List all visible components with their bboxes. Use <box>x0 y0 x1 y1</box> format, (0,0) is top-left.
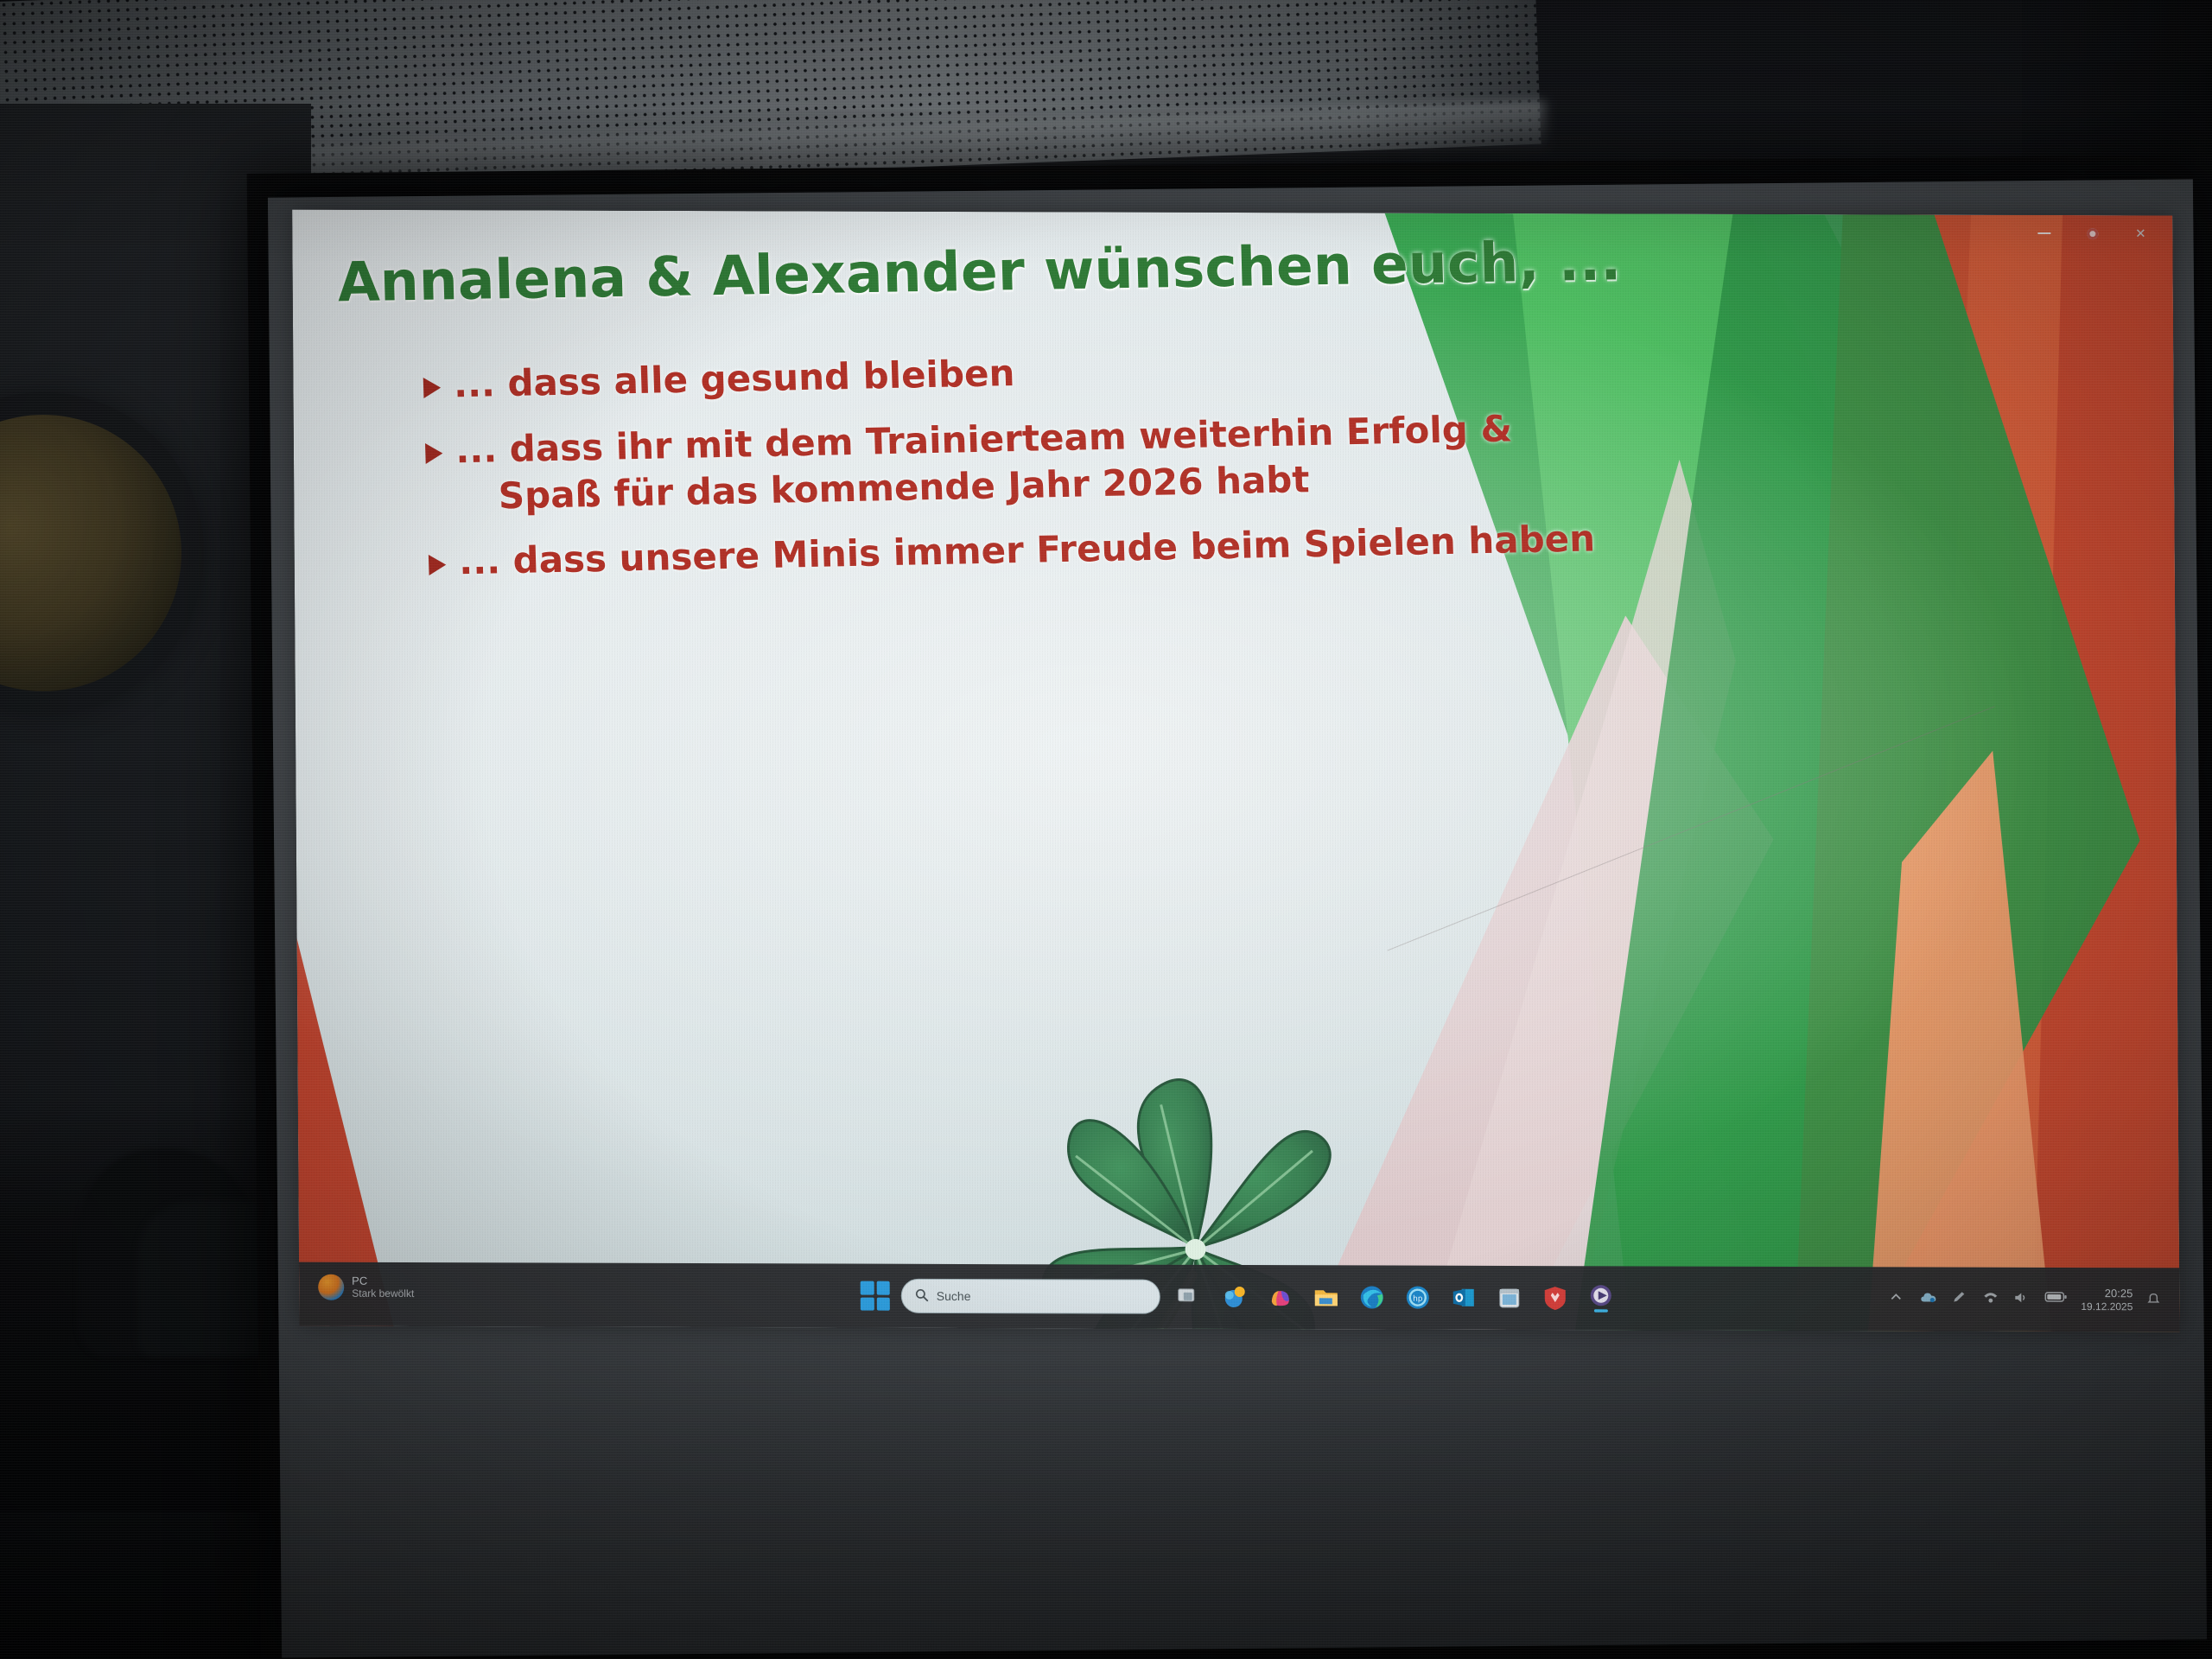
outlook-icon[interactable] <box>1446 1281 1481 1315</box>
search-input[interactable]: Suche <box>901 1279 1160 1314</box>
weather-cloud-icon <box>318 1274 344 1300</box>
svg-text:hp: hp <box>1413 1295 1423 1304</box>
taskbar-weather-widget[interactable]: PC Stark bewölkt <box>318 1274 414 1300</box>
list-item: ... dass ihr mit dem Trainierteam weiter… <box>422 401 1746 521</box>
powerpoint-slide: Annalena & Alexander wünschen euch, ... … <box>292 210 2179 1332</box>
list-item-label: ... dass ihr mit dem Trainierteam weiter… <box>454 405 1514 519</box>
taskbar-center-group: Suche <box>861 1279 1618 1316</box>
edge-icon[interactable] <box>1355 1280 1389 1314</box>
triangle-right-icon <box>426 553 460 578</box>
start-button[interactable] <box>861 1281 890 1311</box>
minimize-icon <box>2037 232 2050 234</box>
maximize-restore-button[interactable] <box>2069 219 2115 248</box>
file-explorer-icon[interactable] <box>1309 1280 1344 1314</box>
pen-icon[interactable] <box>1951 1291 1968 1308</box>
list-item: ... dass alle gesund bleiben <box>420 335 1743 409</box>
microsoft-store-icon[interactable] <box>1492 1281 1527 1315</box>
triangle-right-icon <box>423 441 456 466</box>
projection-screen: Annalena & Alexander wünschen euch, ... … <box>268 179 2207 1657</box>
weather-title: PC <box>352 1274 414 1287</box>
copilot-icon[interactable] <box>1263 1280 1298 1314</box>
windows-desktop: Annalena & Alexander wünschen euch, ... … <box>292 210 2179 1332</box>
battery-icon[interactable] <box>2044 1291 2067 1308</box>
close-button[interactable]: ✕ <box>2117 219 2164 248</box>
weather-condition: Stark bewölkt <box>352 1287 414 1300</box>
start-icon-tile-1 <box>861 1281 874 1295</box>
volume-icon[interactable] <box>2013 1291 2031 1308</box>
triangle-right-icon <box>421 375 454 400</box>
start-icon-tile-4 <box>876 1297 890 1311</box>
notifications-icon[interactable] <box>2146 1291 2164 1308</box>
clock-date: 19.12.2025 <box>2081 1300 2133 1313</box>
widgets-icon[interactable] <box>1217 1280 1252 1314</box>
show-hidden-icons-icon[interactable] <box>1889 1290 1906 1307</box>
taskbar-clock[interactable]: 20:25 19.12.2025 <box>2081 1287 2133 1313</box>
windows-taskbar: PC Stark bewölkt <box>299 1262 2180 1332</box>
list-item-label: ... dass alle gesund bleiben <box>453 350 1015 408</box>
onedrive-icon[interactable] <box>1920 1290 1937 1307</box>
task-view-icon[interactable] <box>1172 1280 1206 1314</box>
list-item: ... dass unsere Minis immer Freude beim … <box>425 512 1748 586</box>
close-icon: ✕ <box>2135 226 2146 241</box>
list-item-line1: ... dass unsere Minis immer Freude beim … <box>458 518 1595 583</box>
security-shield-icon[interactable] <box>1538 1281 1573 1315</box>
room-photo: Annalena & Alexander wünschen euch, ... … <box>0 0 2212 1659</box>
hp-app-icon[interactable]: hp <box>1401 1281 1435 1315</box>
list-item-label: ... dass unsere Minis immer Freude beim … <box>458 516 1595 586</box>
media-player-icon[interactable] <box>1584 1281 1618 1315</box>
network-icon[interactable] <box>1982 1291 1999 1308</box>
window-controls: ✕ <box>2020 219 2164 249</box>
start-icon-tile-3 <box>861 1297 874 1311</box>
restore-icon <box>2087 228 2098 239</box>
clock-time: 20:25 <box>2081 1287 2133 1300</box>
search-placeholder: Suche <box>937 1289 971 1303</box>
search-icon <box>915 1287 929 1304</box>
weather-text: PC Stark bewölkt <box>352 1274 414 1300</box>
list-item-line1: ... dass alle gesund bleiben <box>453 352 1015 405</box>
slide-bullet-list: ... dass alle gesund bleiben ... dass ih… <box>420 335 1749 605</box>
taskbar-system-tray: 20:25 19.12.2025 <box>1889 1286 2164 1313</box>
start-icon-tile-2 <box>876 1281 890 1295</box>
minimize-button[interactable] <box>2020 219 2067 248</box>
